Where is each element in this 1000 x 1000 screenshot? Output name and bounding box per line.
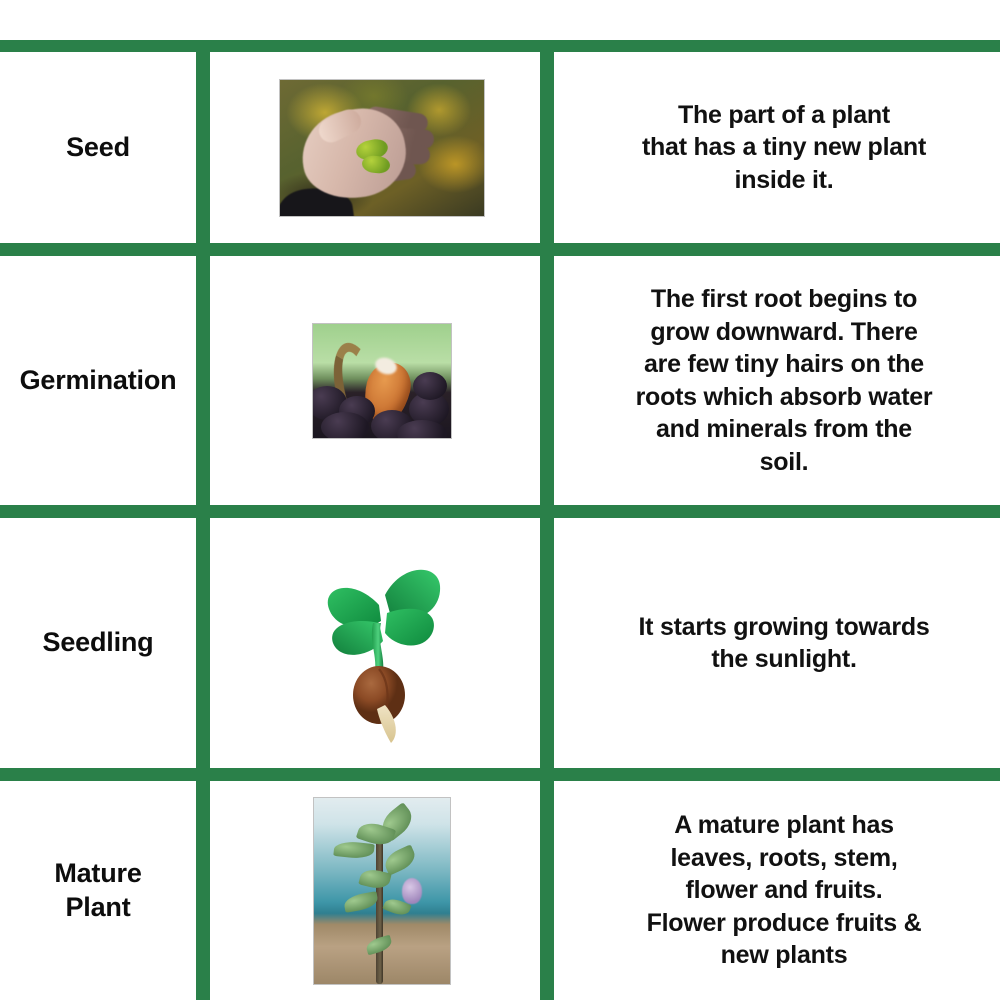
stage-name-label: Germination [20,364,177,397]
stage-image-cell [210,256,554,505]
stage-description-text: It starts growing towards the sunlight. [632,611,935,676]
stage-description-cell: It starts growing towards the sunlight. [568,518,1000,768]
stage-name-label: Seedling [43,626,154,659]
stage-image-cell [210,52,554,243]
seedling-illustration [307,543,457,743]
table-top-border [0,40,1000,52]
stage-description-text: The first root begins to grow downward. … [630,283,939,478]
leaf-shape [381,844,418,875]
soil-clod-shape [321,412,369,438]
leaf-shape [343,891,379,913]
stage-description-cell: A mature plant has leaves, roots, stem, … [568,781,1000,1000]
soil-clod-shape [413,372,447,400]
stage-name-cell: Mature Plant [0,781,196,1000]
leaf-shape [365,934,394,955]
table-row: Seed The part of a plant that has a tiny… [0,52,1000,243]
stage-image-cell [210,781,554,1000]
stage-name-label: Mature Plant [54,857,141,924]
purple-flower-shape [402,878,422,904]
stage-name-cell: Seed [0,52,196,243]
stage-description-cell: The first root begins to grow downward. … [568,256,1000,505]
row-divider-3 [0,768,1000,781]
plant-life-cycle-table-page: Seed The part of a plant that has a tiny… [0,0,1000,1000]
stage-name-cell: Seedling [0,518,196,768]
stage-image-cell [210,518,554,768]
row-divider-1 [0,243,1000,256]
stage-description-cell: The part of a plant that has a tiny new … [568,52,1000,243]
table-row: Germination The first root begins to gro… [0,256,1000,505]
table-row: Mature Plant A mature plant has leaves, … [0,781,1000,1000]
germinating-seed-in-soil-photo [313,324,451,438]
stage-name-cell: Germination [0,256,196,505]
leaf-shape [333,839,374,859]
stage-description-text: A mature plant has leaves, roots, stem, … [641,809,928,972]
mature-plant-photo [314,798,450,984]
row-divider-2 [0,505,1000,518]
stage-name-label: Seed [66,131,130,164]
stage-description-text: The part of a plant that has a tiny new … [636,99,932,197]
table-row: Seedling [0,518,1000,768]
hand-holding-seeds-photo [280,80,484,216]
